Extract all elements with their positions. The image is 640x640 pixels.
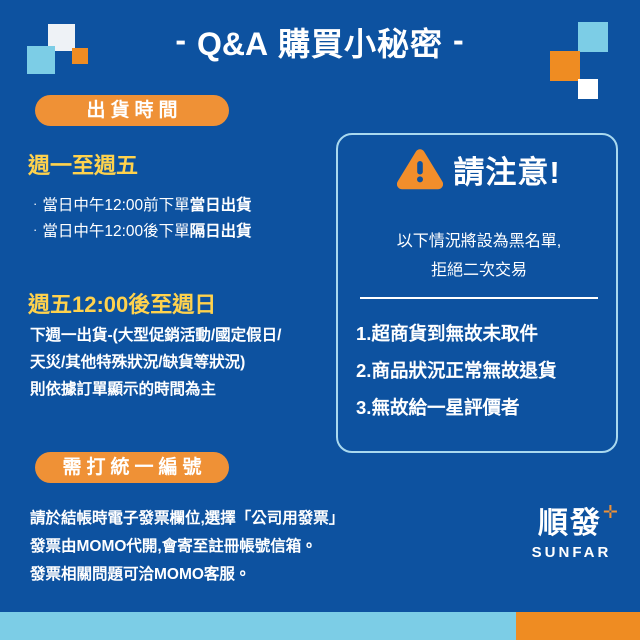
item-number: 2. [356,360,371,381]
heading-weekday: 週一至週五 [28,148,138,180]
item-text: 無故給一星評價者 [371,397,519,418]
qa-poster: -Q&A 購買小秘密- 出貨時間 週一至週五 ·當日中午12:00前下單當日出貨… [0,0,640,640]
list-item-normal: 當日中午12:00後下單 [42,223,189,240]
item-number: 3. [356,397,371,418]
paragraph-line: 下週一出貨-(大型促銷活動/國定假日/ [30,322,330,349]
list-item-bold: 隔日出貨 [190,223,252,240]
logo-chinese-label: 順發 [538,507,602,540]
title-dash-right: - [443,22,475,58]
paragraph-line: 發票相關問題可洽MOMO客服。 [30,561,330,589]
notice-divider [360,297,598,299]
item-text: 超商貨到無故未取件 [371,323,538,344]
notice-box: 請注意! 以下情況將設為黑名單, 拒絕二次交易 1.超商貨到無故未取件 2.商品… [336,133,618,453]
list-item-bold: 當日出貨 [190,197,252,214]
subtitle-line: 拒絕二次交易 [338,256,620,285]
list-item: 2.商品狀況正常無故退貨 [356,352,606,389]
list-item: ·當日中午12:00前下單當日出貨 [33,193,252,219]
list-item: ·當日中午12:00後下單隔日出貨 [33,219,252,245]
list-item-normal: 當日中午12:00前下單 [42,197,189,214]
weekday-list: ·當日中午12:00前下單當日出貨 ·當日中午12:00後下單隔日出貨 [33,193,252,245]
item-text: 商品狀況正常無故退貨 [371,360,556,381]
invoice-paragraph: 請於結帳時電子發票欄位,選擇「公司用發票」 發票由MOMO代開,會寄至註冊帳號信… [30,505,330,589]
left-column: 出貨時間 週一至週五 ·當日中午12:00前下單當日出貨 ·當日中午12:00後… [0,0,330,640]
paragraph-line: 發票由MOMO代開,會寄至註冊帳號信箱。 [30,533,330,561]
badge-shipping-time: 出貨時間 [35,95,229,126]
paragraph-line: 則依據訂單顯示的時間為主 [30,376,330,403]
subtitle-line: 以下情況將設為黑名單, [338,227,620,256]
logo-plus-icon: ✛ [603,503,620,521]
item-number: 1. [356,323,371,344]
notice-title: 請注意! [453,153,560,193]
heading-weekend: 週五12:00後至週日 [28,287,216,319]
notice-header: 請注意! [338,149,620,196]
weekend-paragraph: 下週一出貨-(大型促銷活動/國定假日/ 天災/其他特殊狀況/缺貨等狀況) 則依據… [30,322,330,403]
bullet-dot-icon: · [33,196,37,211]
logo-chinese-text: 順發✛ [518,505,622,543]
bullet-dot-icon: · [33,222,37,237]
decor-square-white-right [578,79,598,99]
logo-english-label: SUNFAR [518,543,622,563]
list-item: 3.無故給一星評價者 [356,389,606,426]
brand-logo: 順發✛ SUNFAR [518,505,622,563]
paragraph-line: 天災/其他特殊狀況/缺貨等狀況) [30,349,330,376]
warning-triangle-icon [397,149,443,196]
notice-item-list: 1.超商貨到無故未取件 2.商品狀況正常無故退貨 3.無故給一星評價者 [356,315,606,426]
bottom-bar-orange [516,612,640,640]
paragraph-line: 請於結帳時電子發票欄位,選擇「公司用發票」 [30,505,330,533]
list-item: 1.超商貨到無故未取件 [356,315,606,352]
badge-invoice-number: 需打統一編號 [35,452,229,483]
notice-subtitle: 以下情況將設為黑名單, 拒絕二次交易 [338,227,620,285]
